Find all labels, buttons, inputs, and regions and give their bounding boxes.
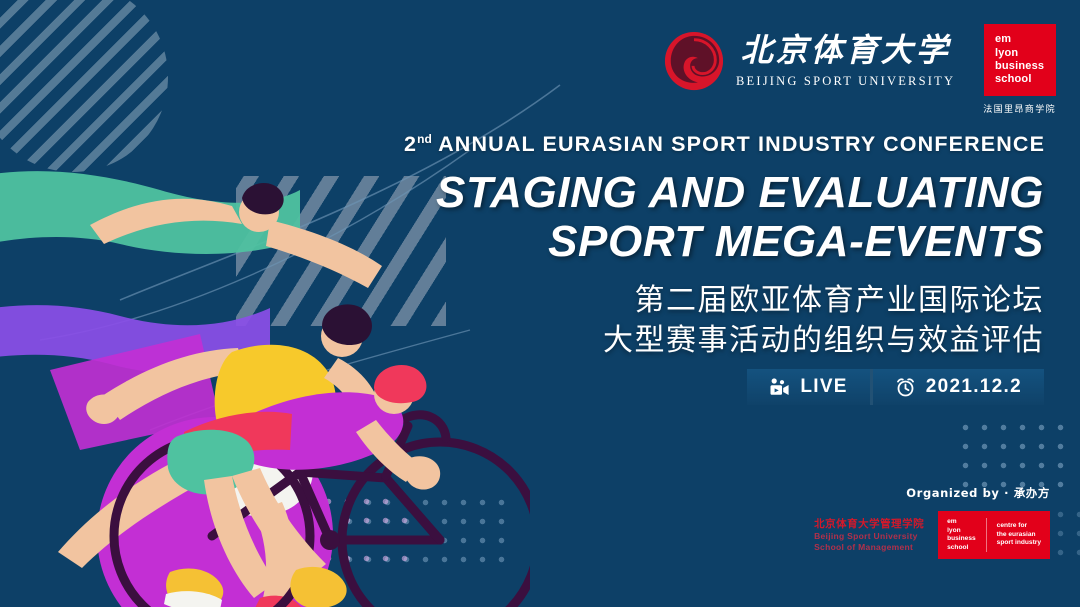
emlyon-ceisi-logo: em lyon business school centre for the e… <box>938 511 1050 559</box>
main-title: STAGING AND EVALUATING SPORT MEGA-EVENTS <box>404 169 1044 267</box>
conference-kicker: 2nd ANNUAL EURASIAN SPORT INDUSTRY CONFE… <box>404 132 1044 157</box>
subtitle-cn-line-1: 第二届欧亚体育产业国际论坛 <box>404 281 1044 322</box>
dot-grid-right <box>956 418 1072 494</box>
bsu-name-block: 北京体育大学 BEIJING SPORT UNIVERSITY <box>736 33 955 88</box>
bsu-som-name-en-line-2: School of Management <box>814 542 924 553</box>
emlyon-footer-wordmark: em lyon business school <box>947 518 976 552</box>
date-badge-label: 2021.12.2 <box>926 376 1022 398</box>
beijing-sport-university-logo: 北京体育大学 BEIJING SPORT UNIVERSITY <box>663 24 955 92</box>
date-badge[interactable]: 2021.12.2 <box>873 369 1044 405</box>
live-badge[interactable]: LIVE <box>747 369 869 405</box>
organizer-block: Organized by · 承办方 北京体育大学管理学院 Beijing Sp… <box>814 485 1050 559</box>
organizer-logo-row: 北京体育大学管理学院 Beijing Sport University Scho… <box>814 511 1050 559</box>
live-badge-label: LIVE <box>800 376 847 398</box>
kicker-ordinal-suffix: nd <box>417 132 432 146</box>
subtitle-cn-line-2: 大型赛事活动的组织与效益评估 <box>404 321 1044 362</box>
logo-divider <box>986 518 987 552</box>
bsu-name-cn: 北京体育大学 <box>741 33 951 68</box>
main-title-line-1: STAGING AND EVALUATING <box>404 169 1044 218</box>
bsu-name-en: BEIJING SPORT UNIVERSITY <box>736 74 955 89</box>
emlyon-name-cn: 法国里昂商学院 <box>983 102 1056 115</box>
emlyon-red-box: em lyon business school <box>984 24 1056 96</box>
bsu-som-name-cn: 北京体育大学管理学院 <box>814 518 924 531</box>
bsu-spiral-logo-icon <box>663 30 725 92</box>
emlyon-wordmark: em lyon business school <box>995 33 1044 87</box>
bsu-school-of-management-logo: 北京体育大学管理学院 Beijing Sport University Scho… <box>814 518 924 552</box>
badge-row: LIVE 2021.12.2 <box>747 369 1044 405</box>
top-logo-row: 北京体育大学 BEIJING SPORT UNIVERSITY em lyon … <box>663 24 1056 115</box>
subtitle-chinese: 第二届欧亚体育产业国际论坛 大型赛事活动的组织与效益评估 <box>404 281 1044 362</box>
organized-by-label: Organized by · 承办方 <box>814 485 1050 501</box>
kicker-ordinal-number: 2 <box>404 132 417 156</box>
emlyon-logo: em lyon business school 法国里昂商学院 <box>983 24 1056 115</box>
alarm-clock-icon <box>895 377 916 398</box>
conference-poster: 北京体育大学 BEIJING SPORT UNIVERSITY em lyon … <box>0 0 1080 607</box>
ceisi-wordmark: centre for the eurasian sport industry <box>997 522 1041 548</box>
kicker-rest: ANNUAL EURASIAN SPORT INDUSTRY CONFERENC… <box>432 132 1045 156</box>
video-camera-icon <box>769 378 790 397</box>
main-title-line-2: SPORT MEGA-EVENTS <box>404 218 1044 267</box>
headline-block: 2nd ANNUAL EURASIAN SPORT INDUSTRY CONFE… <box>404 132 1044 362</box>
bsu-som-name-en-line-1: Beijing Sport University <box>814 531 924 542</box>
